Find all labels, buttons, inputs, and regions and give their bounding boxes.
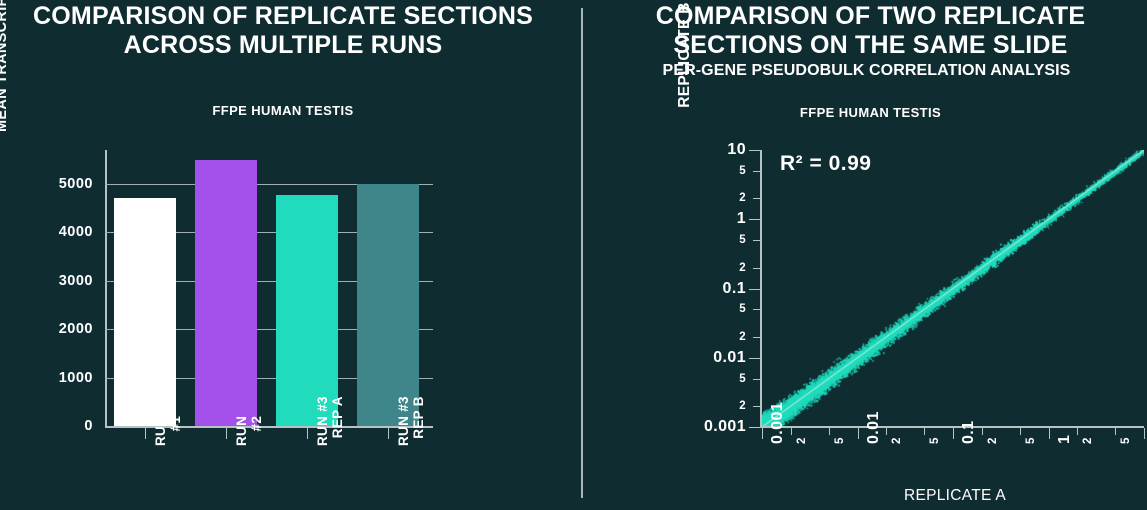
bar-chart-y-tick-label: 4000 (59, 224, 93, 240)
scatter-x-tick-label: 2 (1082, 437, 1094, 444)
scatter-y-tick-label: 2 (739, 400, 746, 412)
bar-chart-y-tick-label: 0 (84, 418, 93, 434)
bar-chart-x-tick-label-line: RUN #3 (396, 396, 411, 446)
bar-chart-x-tick (388, 428, 389, 439)
scatter-x-tick-label: 2 (987, 437, 999, 444)
scatter-x-tick (982, 428, 983, 435)
bar-chart-y-axis-title: MEAN TRANSCRIPTS/CELL (0, 0, 10, 168)
bar-chart-bar[interactable] (195, 160, 257, 426)
bar-chart-x-tick (307, 428, 308, 439)
scatter-y-tick (753, 171, 760, 172)
bar-chart-bars (105, 150, 433, 428)
scatter-y-tick (749, 358, 760, 359)
bar-chart-bar[interactable] (357, 184, 419, 426)
bar-chart-x-tick-label: RUN #3REP B (396, 396, 426, 446)
scatter-x-tick (886, 428, 887, 435)
scatter-x-tick (1077, 428, 1078, 435)
scatter-x-tick-label: 5 (1025, 437, 1037, 444)
scatter-y-tick-label: 5 (739, 373, 746, 385)
bar-chart-x-tick-label-line: REP B (411, 396, 426, 446)
scatter-x-axis-spine (760, 426, 1144, 428)
bar-chart-bar[interactable] (114, 198, 176, 426)
scatter-x-tick-label: 2 (891, 437, 903, 444)
left-panel-caption: FFPE HUMAN TESTIS (0, 103, 566, 118)
scatter-plot-area: 0.001250.01250.12512510 0.001250.01250.1… (760, 150, 1144, 428)
left-panel-title: COMPARISON OF REPLICATE SECTIONS ACROSS … (0, 2, 566, 60)
scatter-y-tick-label: 10 (727, 141, 746, 159)
panel-divider (581, 8, 583, 498)
scatter-x-tick-label: 2 (796, 437, 808, 444)
scatter-y-tick-label: 0.001 (704, 418, 746, 436)
bar-chart-x-tick-label-line: REP A (330, 396, 345, 446)
bar-chart-x-tick-label-line: RUN (153, 416, 168, 446)
scatter-x-tick-label: 5 (1120, 437, 1132, 444)
scatter-x-tick (829, 428, 830, 435)
scatter-x-tick-label: 0.001 (769, 402, 787, 444)
slide-root: COMPARISON OF REPLICATE SECTIONS ACROSS … (0, 0, 1147, 510)
bar-chart-x-tick (226, 428, 227, 439)
scatter-x-tick-label: 0.1 (960, 421, 978, 444)
scatter-y-tick (753, 406, 760, 407)
bar-chart-x-tick-label-line: RUN #3 (315, 396, 330, 446)
scatter-y-axis-spine (760, 150, 762, 428)
bar-chart-x-tick-label-line: #1 (168, 416, 183, 446)
bar-chart-plot-area: 010002000300040005000 RUN#1RUN#2RUN #3RE… (105, 150, 433, 428)
scatter-y-tick (749, 150, 760, 151)
scatter-x-tick (1144, 428, 1145, 439)
scatter-x-tick (762, 428, 763, 439)
scatter-y-tick-label: 0.1 (723, 280, 746, 298)
scatter-y-tick (753, 337, 760, 338)
scatter-y-tick-label: 5 (739, 303, 746, 315)
scatter-x-tick (858, 428, 859, 439)
scatter-point-cloud (762, 150, 1144, 427)
scatter-y-tick (753, 379, 760, 380)
scatter-x-axis-title: REPLICATE A (790, 487, 1120, 505)
bar-chart-bar[interactable] (276, 195, 338, 426)
scatter-y-tick (753, 268, 760, 269)
scatter-x-tick (953, 428, 954, 439)
bar-chart-x-tick (145, 428, 146, 439)
r-squared-annotation: R² = 0.99 (780, 152, 871, 176)
scatter-y-tick (749, 289, 760, 290)
bar-chart-x-tick-label-line: #2 (249, 416, 264, 446)
bar-chart-x-tick-label: RUN #3REP A (315, 396, 345, 446)
bar-chart-y-tick-label: 1000 (59, 370, 93, 386)
scatter-y-tick-label: 5 (739, 165, 746, 177)
scatter-y-tick-label: 2 (739, 262, 746, 274)
scatter-y-tick (753, 240, 760, 241)
bar-chart-x-tick-label: RUN#2 (234, 416, 264, 446)
bar-chart-y-tick-label: 2000 (59, 321, 93, 337)
bar-chart-y-tick-label: 5000 (59, 176, 93, 192)
scatter-y-tick-label: 0.01 (713, 349, 746, 367)
scatter-y-tick-label: 5 (739, 234, 746, 246)
scatter-x-tick-label: 0.01 (865, 411, 883, 444)
scatter-x-tick (924, 428, 925, 435)
scatter-x-tick (1020, 428, 1021, 435)
scatter-x-tick-label: 5 (834, 437, 846, 444)
scatter-y-tick-label: 2 (739, 192, 746, 204)
scatter-y-tick (749, 427, 760, 428)
scatter-y-tick (753, 309, 760, 310)
scatter-y-tick-label: 2 (739, 331, 746, 343)
scatter-x-tick (1115, 428, 1116, 435)
scatter-y-tick-label: 1 (737, 210, 746, 228)
bar-chart-x-tick-label: RUN#1 (153, 416, 183, 446)
scatter-x-tick (791, 428, 792, 435)
scatter-x-tick-label: 1 (1056, 435, 1074, 444)
bar-chart-y-tick-label: 3000 (59, 273, 93, 289)
bar-chart-x-tick-label-line: RUN (234, 416, 249, 446)
scatter-y-tick (753, 198, 760, 199)
scatter-x-tick-label: 5 (929, 437, 941, 444)
right-panel-subtitle: PER-GENE PSEUDOBULK CORRELATION ANALYSIS (586, 62, 1147, 80)
scatter-y-tick (749, 219, 760, 220)
scatter-y-axis-title: REPLICATE B (676, 0, 694, 175)
scatter-x-tick (1049, 428, 1050, 439)
